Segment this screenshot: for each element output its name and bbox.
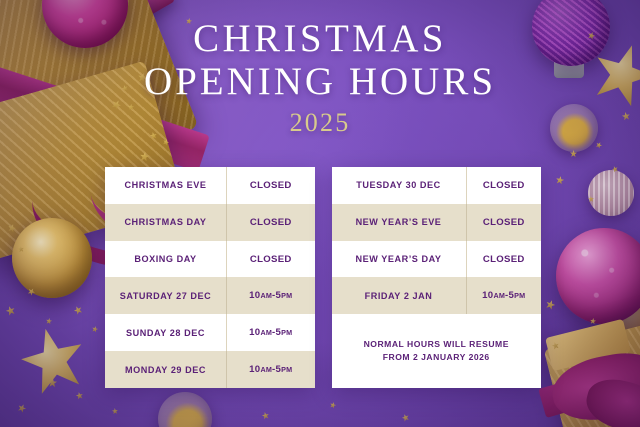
day-cell: MONDAY 29 DEC	[105, 351, 226, 388]
hours-open: 10	[249, 327, 260, 338]
day-cell: CHRISTMAS DAY	[105, 204, 226, 241]
hours-cell: 10AM-5PM	[226, 351, 315, 388]
table-row: SATURDAY 27 DEC 10AM-5PM	[105, 277, 315, 314]
day-cell: TUESDAY 30 DEC	[332, 167, 466, 204]
hours-open: 10	[249, 364, 260, 375]
day-cell: SATURDAY 27 DEC	[105, 277, 226, 314]
hours-cell: 10AM-5PM	[226, 314, 315, 351]
hours-cell: CLOSED	[226, 204, 315, 241]
table-row: BOXING DAY CLOSED	[105, 241, 315, 278]
hours-open: 10	[482, 290, 493, 301]
hours-open-meridiem: AM	[493, 291, 505, 300]
hours-cell: CLOSED	[226, 241, 315, 278]
resume-note: NORMAL HOURS WILL RESUME FROM 2 JANUARY …	[332, 314, 542, 388]
hours-cell: CLOSED	[226, 167, 315, 204]
table-row: SUNDAY 28 DEC 10AM-5PM	[105, 314, 315, 351]
christmas-opening-hours-poster: CHRISTMAS OPENING HOURS 2025 CHRISTMAS E…	[0, 0, 640, 427]
hours-cell: CLOSED	[466, 167, 542, 204]
hours-cell: 10AM-5PM	[226, 277, 315, 314]
hours-close: -5	[272, 364, 281, 375]
opening-hours-table-right: TUESDAY 30 DEC CLOSED NEW YEAR’S EVE CLO…	[332, 167, 542, 388]
table-row: NEW YEAR’S DAY CLOSED	[332, 241, 542, 278]
day-cell: CHRISTMAS EVE	[105, 167, 226, 204]
page-title-year: 2025	[0, 108, 640, 138]
hours-open-meridiem: AM	[260, 365, 272, 374]
hours-cell: CLOSED	[466, 204, 542, 241]
hours-close: -5	[272, 327, 281, 338]
hours-close: -5	[505, 290, 514, 301]
day-cell: BOXING DAY	[105, 241, 226, 278]
hours-close-meridiem: PM	[281, 365, 292, 374]
hours-close-meridiem: PM	[281, 328, 292, 337]
resume-note-line-1: NORMAL HOURS WILL RESUME	[364, 338, 509, 351]
page-title-line-1: CHRISTMAS	[0, 18, 640, 61]
resume-note-line-2: FROM 2 JANUARY 2026	[364, 351, 509, 364]
table-row: CHRISTMAS EVE CLOSED	[105, 167, 315, 204]
poster-header: CHRISTMAS OPENING HOURS 2025	[0, 18, 640, 138]
day-cell: SUNDAY 28 DEC	[105, 314, 226, 351]
hours-open: 10	[249, 290, 260, 301]
hours-close-meridiem: PM	[281, 291, 292, 300]
day-cell: FRIDAY 2 JAN	[332, 277, 466, 314]
hours-cell: CLOSED	[466, 241, 542, 278]
hours-close: -5	[272, 290, 281, 301]
table-row: MONDAY 29 DEC 10AM-5PM	[105, 351, 315, 388]
table-row: FRIDAY 2 JAN 10AM-5PM	[332, 277, 542, 314]
hours-open-meridiem: AM	[260, 328, 272, 337]
table-row: TUESDAY 30 DEC CLOSED	[332, 167, 542, 204]
opening-hours-table-left: CHRISTMAS EVE CLOSED CHRISTMAS DAY CLOSE…	[105, 167, 315, 388]
day-cell: NEW YEAR’S DAY	[332, 241, 466, 278]
page-title-line-2: OPENING HOURS	[0, 61, 640, 104]
hours-close-meridiem: PM	[514, 291, 525, 300]
table-row: NEW YEAR’S EVE CLOSED	[332, 204, 542, 241]
day-cell: NEW YEAR’S EVE	[332, 204, 466, 241]
hours-open-meridiem: AM	[260, 291, 272, 300]
opening-hours-tables: CHRISTMAS EVE CLOSED CHRISTMAS DAY CLOSE…	[105, 167, 541, 388]
table-row: CHRISTMAS DAY CLOSED	[105, 204, 315, 241]
hours-cell: 10AM-5PM	[466, 277, 542, 314]
